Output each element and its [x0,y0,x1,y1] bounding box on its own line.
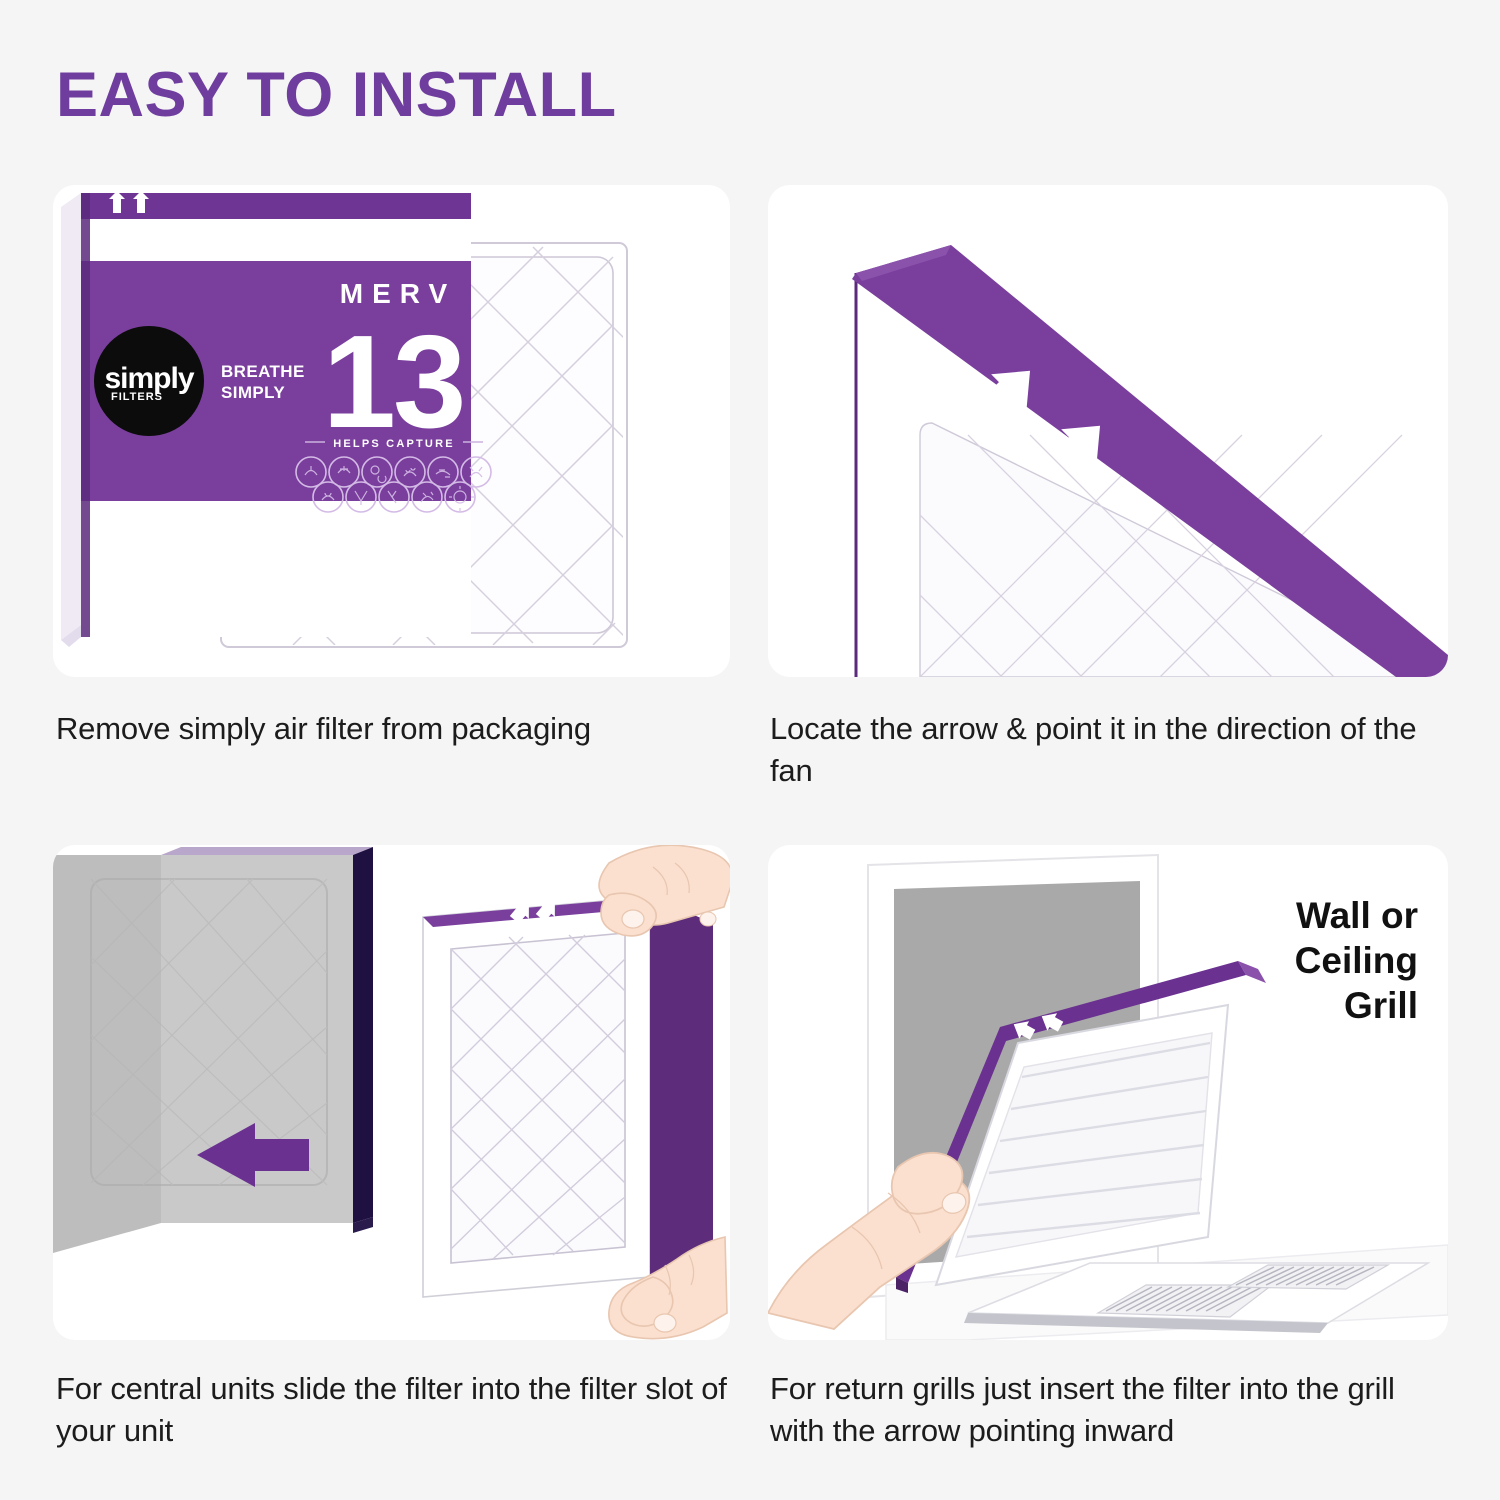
panel-2-caption: Locate the arrow & point it in the direc… [770,708,1430,792]
package-spine [61,193,81,647]
filter-edge-arrow-illustration [768,185,1448,677]
filter-media [451,933,625,1263]
panel-3-caption: For central units slide the filter into … [56,1368,746,1452]
grill-label-line-3: Grill [1295,983,1418,1028]
panel-3-card [53,845,730,1340]
merv-value: 13 [323,308,464,455]
grill-label-line-1: Wall or [1295,893,1418,938]
panel-1-card: simply FILTERS BREATHE SIMPLY MERV 13 HE… [53,185,730,677]
filter-package-illustration: simply FILTERS BREATHE SIMPLY MERV 13 HE… [53,185,730,677]
wall-ceiling-grill-label: Wall or Ceiling Grill [1295,893,1418,1028]
grill-label-line-2: Ceiling [1295,938,1418,983]
hand-top [599,845,730,936]
tagline-line-1: BREATHE [221,362,305,381]
helps-capture-label: HELPS CAPTURE [333,438,455,450]
tagline-line-2: SIMPLY [221,383,285,402]
panel-4-caption: For return grills just insert the filter… [770,1368,1450,1452]
slide-filter-illustration [53,845,730,1340]
filter-unit [423,892,713,1297]
brand-logo: simply FILTERS [94,326,204,436]
merv-label: MERV [340,278,456,309]
panel-4-card: Wall or Ceiling Grill [768,845,1448,1340]
page-title: EASY TO INSTALL [56,64,617,127]
hvac-unit-slot [53,847,373,1253]
panel-1-caption: Remove simply air filter from packaging [56,708,746,750]
package-front: simply FILTERS BREATHE SIMPLY MERV 13 HE… [81,191,491,637]
brand-sub: FILTERS [111,391,163,403]
panel-2-card [768,185,1448,677]
